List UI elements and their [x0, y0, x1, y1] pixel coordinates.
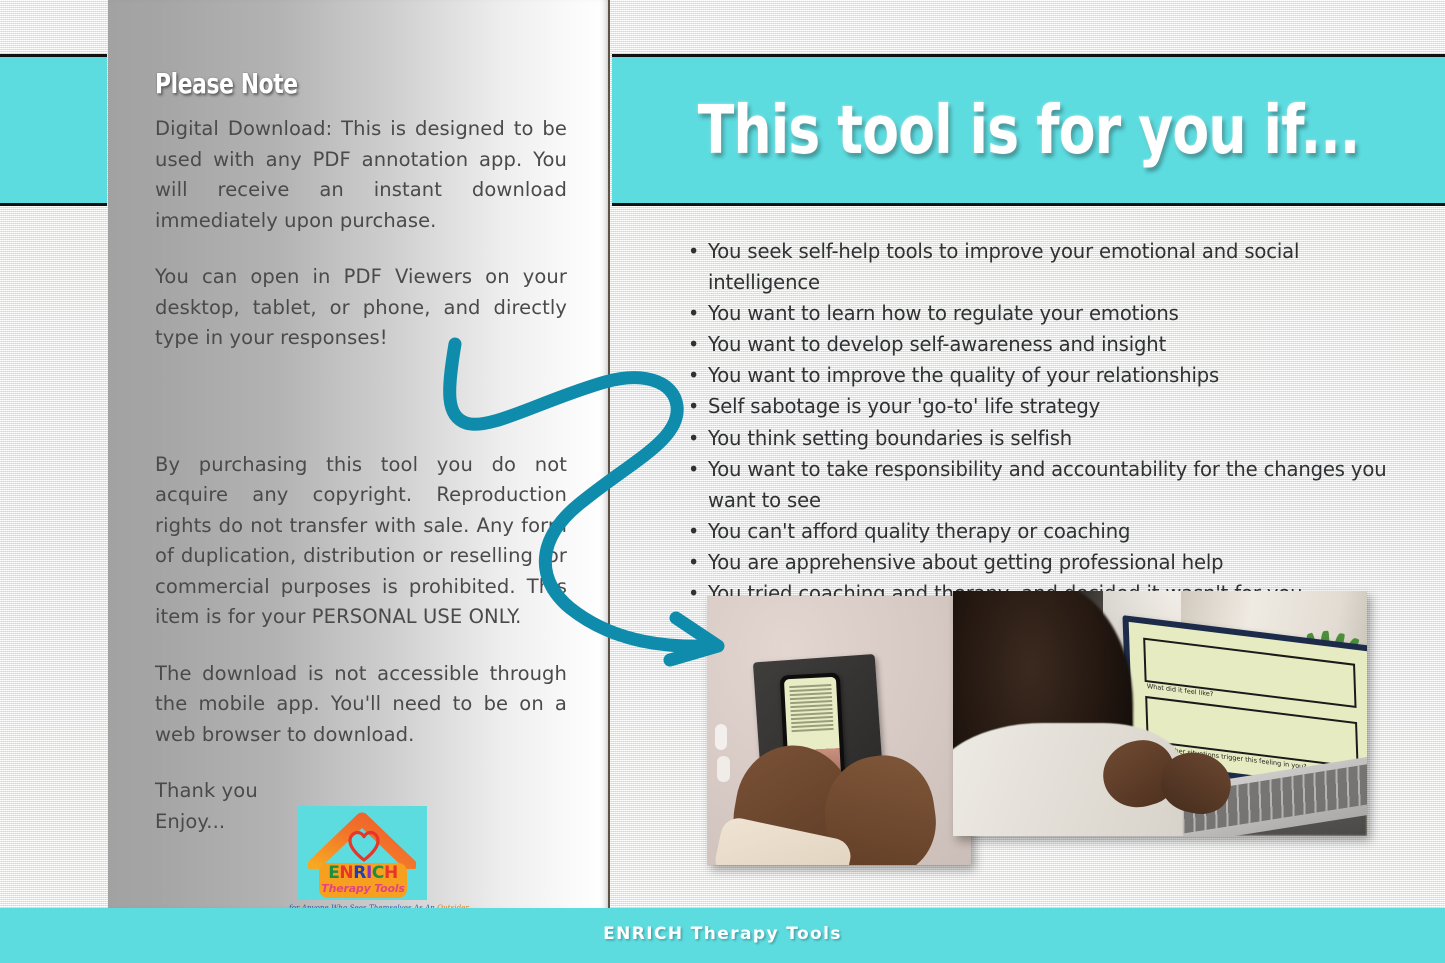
list-item: You want to take responsibility and acco… [708, 454, 1394, 516]
logo-letter-h: H [384, 863, 398, 883]
phone-text-lines [789, 684, 833, 734]
list-item: You are apprehensive about getting profe… [708, 547, 1394, 578]
note-paragraph-mobile: The download is not accessible through t… [155, 659, 567, 751]
logo-letter-n: N [339, 863, 353, 883]
footer-bar: ENRICH Therapy Tools [0, 908, 1445, 963]
note-paragraph-download: Digital Download: This is designed to be… [155, 114, 567, 236]
note-thank-you: Thank you [155, 776, 567, 807]
logo-subtitle: Therapy Tools [319, 882, 407, 895]
list-item: You think setting boundaries is selfish [708, 423, 1394, 454]
spacer [155, 380, 568, 450]
turquoise-band-right [612, 54, 1445, 206]
page-title: Please Note [155, 70, 477, 98]
logo-letter-c: C [372, 863, 384, 883]
note-panel: Please Note Digital Download: This is de… [108, 0, 610, 908]
photo-hands-holding-phone [707, 596, 971, 865]
list-item: You want to learn how to regulate your e… [708, 298, 1394, 329]
list-item: You want to develop self-awareness and i… [708, 329, 1394, 360]
note-paragraph-viewers: You can open in PDF Viewers on your desk… [155, 262, 567, 354]
list-item: You seek self-help tools to improve your… [708, 236, 1394, 298]
benefits-list-container: You seek self-help tools to improve your… [686, 236, 1426, 609]
note-paragraph-copyright: By purchasing this tool you do not acqui… [155, 450, 567, 633]
note-panel-content: Please Note Digital Download: This is de… [108, 0, 608, 908]
list-item: You want to improve the quality of your … [708, 360, 1394, 391]
earbud-left [715, 724, 727, 750]
benefits-list: You seek self-help tools to improve your… [686, 236, 1426, 609]
list-item: Self sabotage is your 'go-to' life strat… [708, 391, 1394, 422]
logo-wordmark: ENRICH [319, 864, 407, 883]
earbud-right [717, 756, 730, 782]
brand-logo: ENRICH Therapy Tools for Anyone Who Sees… [297, 806, 427, 900]
footer-brand-label: ENRICH Therapy Tools [0, 924, 1445, 944]
list-item: You can't afford quality therapy or coac… [708, 516, 1394, 547]
logo-letter-e: E [328, 863, 339, 883]
worksheet-field-1 [1143, 638, 1356, 708]
heart-icon [347, 830, 381, 862]
logo-letter-r: R [353, 863, 366, 883]
logo-wordmark-pill: ENRICH Therapy Tools [319, 863, 407, 898]
page-background: Please Note Digital Download: This is de… [0, 0, 1445, 963]
turquoise-band-left [0, 54, 107, 206]
photo-person-typing-laptop: What did it feel like? What other situat… [953, 591, 1367, 836]
logo-tile: ENRICH Therapy Tools [297, 806, 427, 900]
